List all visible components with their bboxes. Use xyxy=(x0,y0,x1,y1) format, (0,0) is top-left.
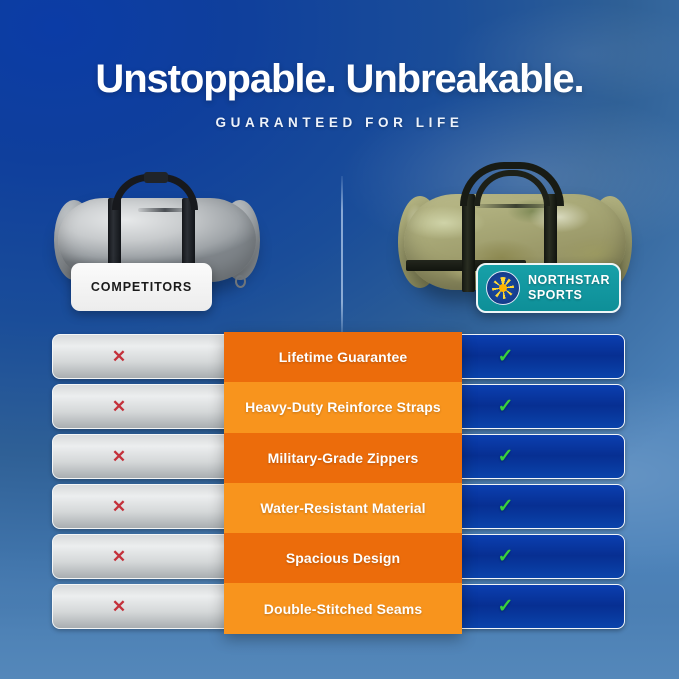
cross-icon: ✕ xyxy=(112,348,126,365)
competitors-label-text: COMPETITORS xyxy=(91,280,192,294)
cross-icon: ✕ xyxy=(112,448,126,465)
comparison-table: ✕ ✓ ✕ ✓ ✕ ✓ ✕ ✓ ✕ ✓ xyxy=(0,332,679,638)
page-title: Unstoppable. Unbreakable. xyxy=(0,58,679,101)
northstar-brand-text: NORTHSTAR SPORTS xyxy=(528,273,610,303)
page-subtitle: GUARANTEED FOR LIFE xyxy=(0,115,679,130)
feature-label: Double-Stitched Seams xyxy=(224,583,462,633)
brand-line-2: SPORTS xyxy=(528,288,582,302)
northstar-brand-pill: NORTHSTAR SPORTS xyxy=(476,263,621,313)
bag-d-ring xyxy=(235,275,246,288)
check-icon: ✓ xyxy=(498,347,514,366)
feature-label: Military-Grade Zippers xyxy=(224,433,462,483)
bag-strap-left xyxy=(462,194,475,292)
vertical-divider xyxy=(341,176,343,334)
cross-icon: ✕ xyxy=(112,548,126,565)
northstar-compass-seal-icon xyxy=(486,271,520,305)
check-icon: ✓ xyxy=(498,447,514,466)
feature-label: Spacious Design xyxy=(224,533,462,583)
feature-column: Lifetime Guarantee Heavy-Duty Reinforce … xyxy=(224,332,462,634)
check-icon: ✓ xyxy=(498,547,514,566)
brand-line-1: NORTHSTAR xyxy=(528,273,610,287)
cross-icon: ✕ xyxy=(112,598,126,615)
competitors-label-pill: COMPETITORS xyxy=(71,263,212,311)
check-icon: ✓ xyxy=(498,497,514,516)
bag-handle-wrap xyxy=(144,172,168,183)
cross-icon: ✕ xyxy=(112,498,126,515)
feature-label: Water-Resistant Material xyxy=(224,483,462,533)
header: Unstoppable. Unbreakable. GUARANTEED FOR… xyxy=(0,0,679,130)
cross-icon: ✕ xyxy=(112,398,126,415)
feature-label: Heavy-Duty Reinforce Straps xyxy=(224,382,462,432)
check-icon: ✓ xyxy=(498,597,514,616)
check-icon: ✓ xyxy=(498,397,514,416)
feature-label: Lifetime Guarantee xyxy=(224,332,462,382)
